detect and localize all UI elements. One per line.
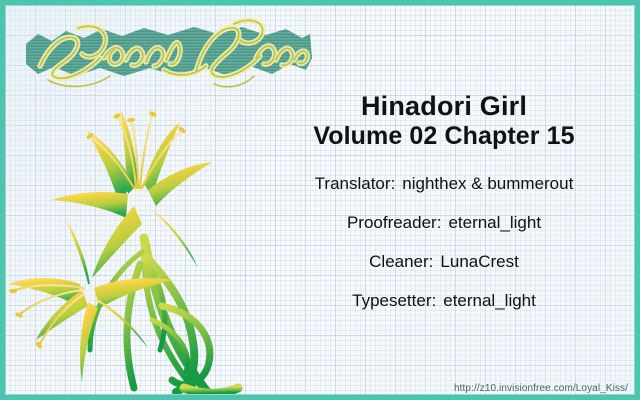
credit-name: eternal_light — [448, 213, 541, 232]
credit-role: Cleaner: — [369, 252, 433, 271]
credit-row: Typesetter:eternal_light — [258, 292, 630, 309]
loyal-kiss-logo — [18, 14, 318, 92]
credit-role: Proofreader: — [347, 213, 442, 232]
credits-page: Hinadori Girl Volume 02 Chapter 15 Trans… — [0, 0, 640, 400]
credit-role: Translator: — [315, 174, 396, 193]
credit-row: Cleaner:LunaCrest — [258, 253, 630, 270]
volume-chapter-title: Volume 02 Chapter 15 — [258, 122, 630, 151]
credit-row: Translator:nighthex & bummerout — [258, 175, 630, 192]
series-title: Hinadori Girl — [258, 92, 630, 120]
credit-row: Proofreader:eternal_light — [258, 214, 630, 231]
site-url[interactable]: http://z10.invisionfree.com/Loyal_Kiss/ — [454, 383, 628, 394]
credits-content: Hinadori Girl Volume 02 Chapter 15 Trans… — [258, 92, 630, 309]
credit-name: nighthex & bummerout — [402, 174, 573, 193]
upper-blossom — [52, 108, 212, 278]
credit-name: LunaCrest — [440, 252, 518, 271]
lower-anthers — [9, 288, 43, 349]
credit-role: Typesetter: — [352, 291, 436, 310]
lily-flower-illustration — [0, 88, 274, 400]
credit-name: eternal_light — [443, 291, 536, 310]
credits-list: Translator:nighthex & bummerout Proofrea… — [258, 175, 630, 309]
